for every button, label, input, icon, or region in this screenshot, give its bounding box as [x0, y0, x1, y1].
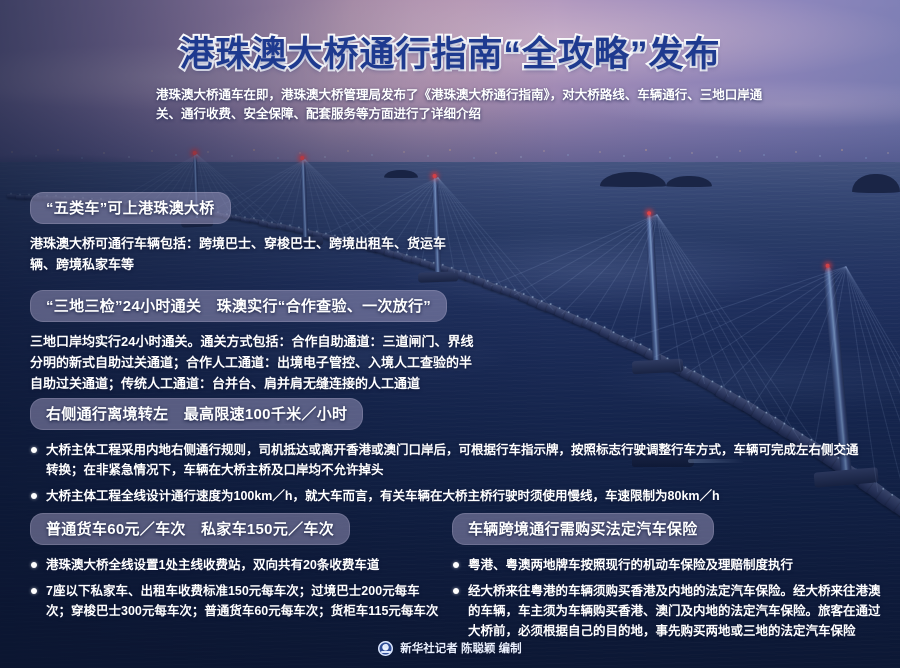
page-title: 港珠澳大桥通行指南“全攻略”发布: [0, 26, 900, 77]
section-bullets-insurance: 粤港、粤澳两地牌车按照现行的机动车保险及理赔制度执行 经大桥来往粤港的车辆须购买…: [452, 555, 884, 641]
section-body-vehicles: 港珠澳大桥可通行车辆包括：跨境巴士、穿梭巴士、跨境出租车、货运车辆、跨境私家车等: [30, 233, 460, 275]
section-heading-insurance: 车辆跨境通行需购买法定汽车保险: [452, 513, 714, 545]
section-bullets-toll: 港珠澳大桥全线设置1处主线收费站，双向共有20条收费车道 7座以下私家车、出租车…: [30, 555, 440, 621]
content-layer: 港珠澳大桥通行指南“全攻略”发布 港珠澳大桥通车在即，港珠澳大桥管理局发布了《港…: [0, 0, 900, 668]
section-vehicles: “五类车”可上港珠澳大桥 港珠澳大桥可通行车辆包括：跨境巴士、穿梭巴士、跨境出租…: [30, 192, 460, 275]
section-bullets-driving: 大桥主体工程采用内地右侧通行规则，司机抵达或离开香港或澳门口岸后，可根据行车指示…: [30, 440, 870, 506]
list-item: 经大桥来往粤港的车辆须购买香港及内地的法定汽车保险。经大桥来往港澳的车辆，车主须…: [452, 581, 884, 641]
section-insurance: 车辆跨境通行需购买法定汽车保险 粤港、粤澳两地牌车按照现行的机动车保险及理赔制度…: [452, 513, 884, 647]
list-item: 港珠澳大桥全线设置1处主线收费站，双向共有20条收费车道: [30, 555, 440, 575]
list-item: 7座以下私家车、出租车收费标准150元每车次；过境巴士200元每车次；穿梭巴士3…: [30, 581, 440, 621]
section-toll: 普通货车60元／车次 私家车150元／车次 港珠澳大桥全线设置1处主线收费站，双…: [30, 513, 440, 627]
credit-line: 新华社记者 陈聪颖 编制: [0, 640, 900, 656]
section-heading-customs: “三地三检”24小时通关 珠澳实行“合作查验、一次放行”: [30, 290, 447, 322]
page-subtitle: 港珠澳大桥通车在即，港珠澳大桥管理局发布了《港珠澳大桥通行指南》，对大桥路线、车…: [156, 86, 776, 124]
infographic-poster: 港珠澳大桥通行指南“全攻略”发布 港珠澳大桥通车在即，港珠澳大桥管理局发布了《港…: [0, 0, 900, 668]
section-driving: 右侧通行离境转左 最高限速100千米／小时 大桥主体工程采用内地右侧通行规则，司…: [30, 398, 870, 512]
list-item: 大桥主体工程全线设计通行速度为100km／h，就大车而言，有关车辆在大桥主桥行驶…: [30, 486, 870, 506]
credit-text: 新华社记者 陈聪颖 编制: [400, 640, 521, 656]
section-customs: “三地三检”24小时通关 珠澳实行“合作查验、一次放行” 三地口岸均实行24小时…: [30, 290, 480, 394]
list-item: 粤港、粤澳两地牌车按照现行的机动车保险及理赔制度执行: [452, 555, 884, 575]
section-heading-driving: 右侧通行离境转左 最高限速100千米／小时: [30, 398, 363, 430]
xinhua-logo-icon: [378, 641, 393, 656]
section-heading-toll: 普通货车60元／车次 私家车150元／车次: [30, 513, 350, 545]
section-heading-vehicles: “五类车”可上港珠澳大桥: [30, 192, 231, 224]
list-item: 大桥主体工程采用内地右侧通行规则，司机抵达或离开香港或澳门口岸后，可根据行车指示…: [30, 440, 870, 480]
section-body-customs: 三地口岸均实行24小时通关。通关方式包括：合作自助通道：三道闸门、界线分明的新式…: [30, 331, 480, 394]
